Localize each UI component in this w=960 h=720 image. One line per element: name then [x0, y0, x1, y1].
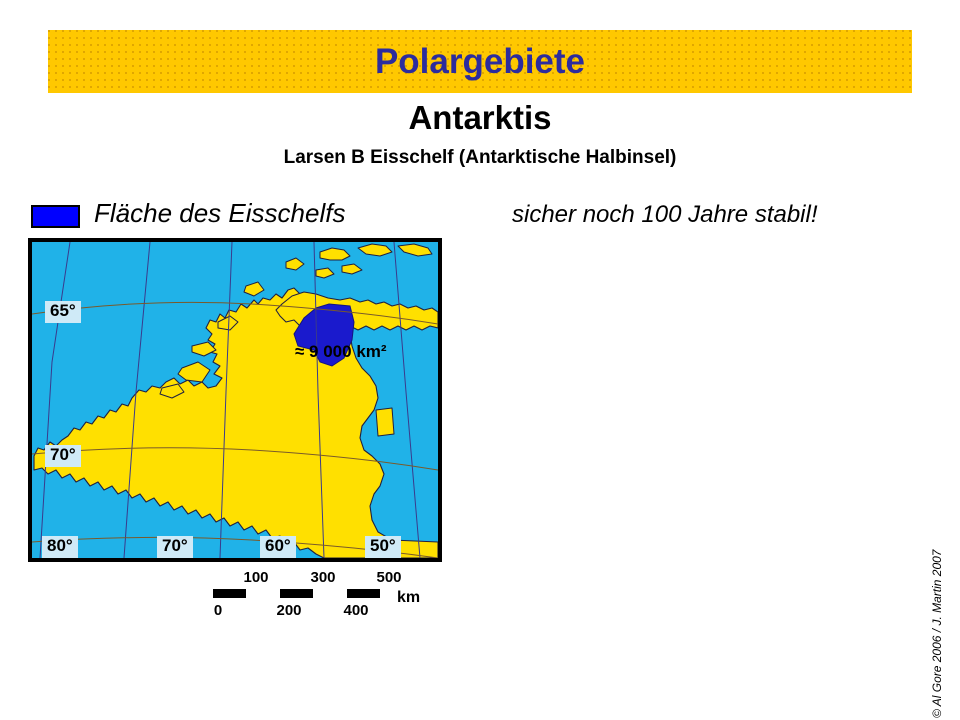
map-scalebar: 100 300 500 0 200 400 km: [213, 570, 433, 625]
copyright-notice: © Al Gore 2006 / J. Martin 2007: [929, 702, 960, 718]
scalebar-tick-0: 0: [214, 603, 222, 618]
scalebar-segment: [280, 589, 313, 598]
stability-note: sicher noch 100 Jahre stabil!: [512, 201, 818, 229]
scalebar-track: [213, 589, 380, 598]
scalebar-segment: [313, 589, 346, 598]
region-heading: Antarktis: [0, 101, 960, 134]
page-title: Polargebiete: [375, 44, 585, 79]
graticule-label-lat-65: 65°: [45, 301, 81, 323]
ice-shelf-area-annotation: ≈ 9 000 km²: [295, 343, 387, 360]
legend-color-swatch: [31, 205, 80, 228]
graticule-label-lat-70: 70°: [45, 445, 81, 467]
title-banner: Polargebiete: [48, 30, 912, 93]
scalebar-tick-500: 500: [376, 570, 401, 585]
graticule-label-lon-50: 50°: [365, 536, 401, 558]
scalebar-segment: [246, 589, 279, 598]
scalebar-segment: [213, 589, 246, 598]
scalebar-tick-300: 300: [310, 570, 335, 585]
scalebar-tick-400: 400: [343, 603, 368, 618]
scalebar-tick-100: 100: [243, 570, 268, 585]
legend-label: Fläche des Eisschelfs: [94, 199, 345, 229]
scalebar-unit-label: km: [397, 590, 420, 606]
map-canvas: [32, 242, 438, 558]
subtitle-heading: Larsen B Eisschelf (Antarktische Halbins…: [0, 148, 960, 167]
scalebar-segment: [347, 589, 380, 598]
scalebar-tick-200: 200: [276, 603, 301, 618]
graticule-label-lon-60: 60°: [260, 536, 296, 558]
graticule-label-lon-80: 80°: [42, 536, 78, 558]
map-figure: 65° 70° 80° 70° 60° 50°: [28, 238, 442, 562]
graticule-label-lon-70: 70°: [157, 536, 193, 558]
